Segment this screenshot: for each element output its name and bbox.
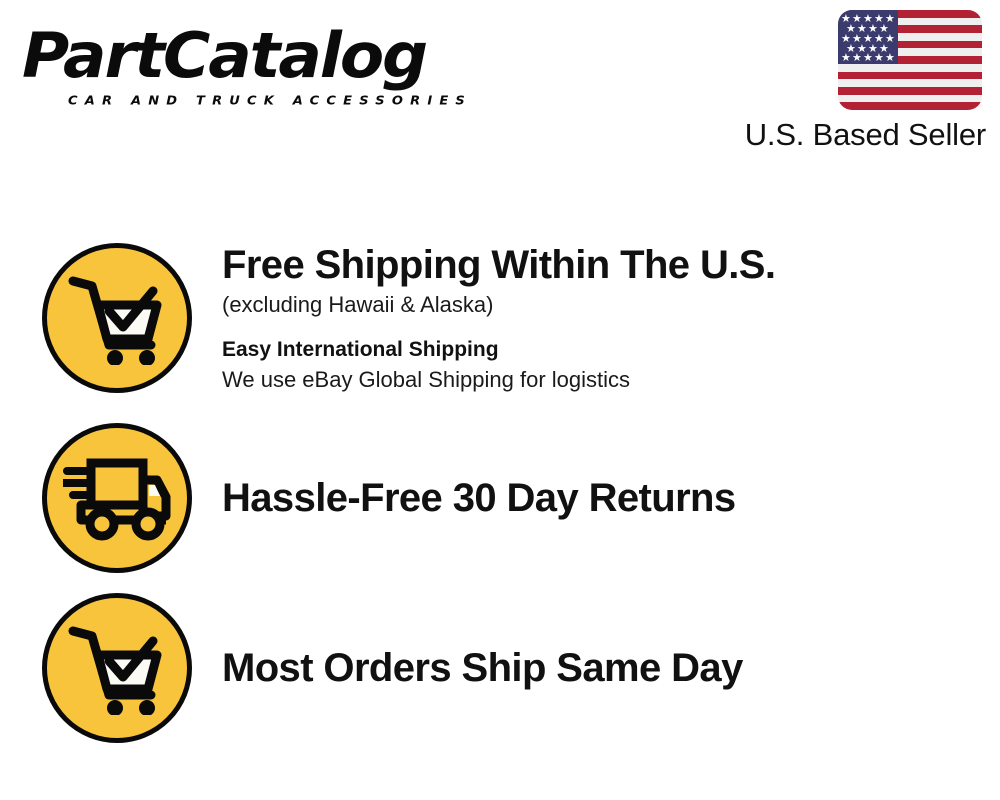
brand-logo-wordmark: PartCatalog <box>22 24 511 88</box>
us-based-seller-label: U.S. Based Seller <box>745 118 986 152</box>
brand-logo[interactable]: PartCatalog CAR AND TRUCK ACCESSORIES <box>22 24 492 124</box>
feature-detail: We use eBay Global Shipping for logistic… <box>222 365 980 395</box>
feature-title: Free Shipping Within The U.S. <box>222 242 980 288</box>
feature-row: Most Orders Ship Same Day <box>0 588 1000 748</box>
us-flag-badge: ★ ★ ★ ★ ★ ★ ★ ★ ★ ★ ★ ★ ★ ★ ★ ★ ★ ★ ★ ★ <box>838 10 982 110</box>
shopping-cart-check-icon <box>42 593 192 743</box>
feature-title: Hassle-Free 30 Day Returns <box>222 475 980 521</box>
feature-subtitle: (excluding Hawaii & Alaska) <box>222 290 980 320</box>
brand-logo-tagline: CAR AND TRUCK ACCESSORIES <box>68 95 472 109</box>
shopping-cart-check-icon <box>42 243 192 393</box>
fast-delivery-truck-icon <box>42 423 192 573</box>
feature-text-block: Free Shipping Within The U.S. (excluding… <box>222 242 1000 395</box>
us-flag-icon: ★ ★ ★ ★ ★ ★ ★ ★ ★ ★ ★ ★ ★ ★ ★ ★ ★ ★ ★ ★ <box>838 10 982 110</box>
feature-text-block: Hassle-Free 30 Day Returns <box>222 475 1000 521</box>
flag-canton: ★ ★ ★ ★ ★ ★ ★ ★ ★ ★ ★ ★ ★ ★ ★ ★ ★ ★ ★ ★ <box>838 10 898 64</box>
feature-text-block: Most Orders Ship Same Day <box>222 645 1000 691</box>
feature-subheading: Easy International Shipping <box>222 336 980 364</box>
feature-title: Most Orders Ship Same Day <box>222 645 980 691</box>
feature-row: Hassle-Free 30 Day Returns <box>0 418 1000 578</box>
page-header: PartCatalog CAR AND TRUCK ACCESSORIES ★ … <box>0 0 1000 170</box>
feature-row: Free Shipping Within The U.S. (excluding… <box>0 238 1000 398</box>
